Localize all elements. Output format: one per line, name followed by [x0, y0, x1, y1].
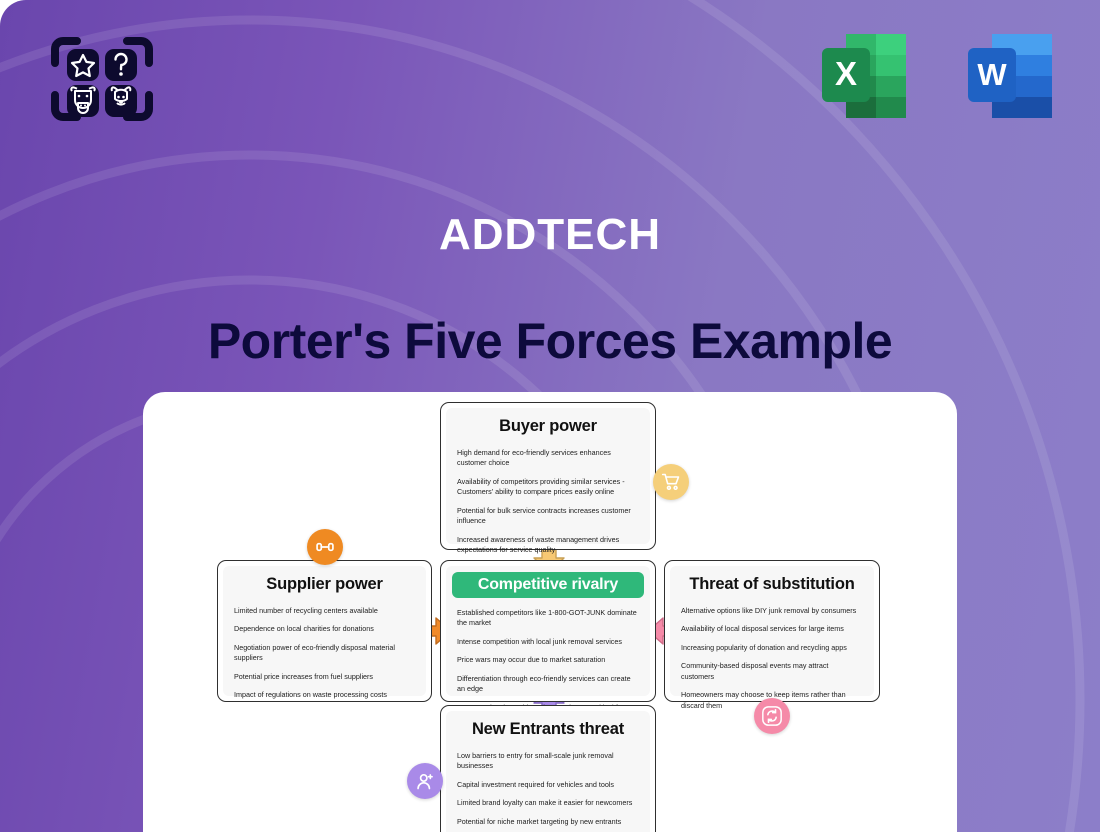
list-item: Intense competition with local junk remo… — [457, 637, 639, 647]
brand-title: ADDTECH — [0, 210, 1100, 260]
card-title: Buyer power — [457, 417, 639, 436]
word-icon: W — [960, 28, 1058, 124]
addtech-logo — [47, 33, 157, 125]
card-buyer-power[interactable]: Buyer power High demand for eco-friendly… — [440, 402, 656, 550]
list-item: Potential price increases from fuel supp… — [234, 672, 415, 682]
badge-supplier-power[interactable] — [307, 529, 343, 565]
card-supplier-power[interactable]: Supplier power Limited number of recycli… — [217, 560, 432, 702]
list-item: Community-based disposal events may attr… — [681, 661, 863, 682]
list-item: Price wars may occur due to market satur… — [457, 655, 639, 665]
card-title: Supplier power — [234, 575, 415, 594]
slide-page: X W ADDTECH Porter's Five Forces Example — [0, 0, 1100, 832]
list-item: Increasing popularity of donation and re… — [681, 643, 863, 653]
page-title: Porter's Five Forces Example — [0, 312, 1100, 370]
diagram-canvas: Buyer power High demand for eco-friendly… — [143, 392, 957, 832]
list-item: Dependence on local charities for donati… — [234, 624, 415, 634]
card-items: Alternative options like DIY junk remova… — [681, 606, 863, 711]
shopping-cart-icon — [661, 472, 681, 492]
list-item: Differentiation through eco-friendly ser… — [457, 674, 639, 695]
card-title: Threat of substitution — [681, 575, 863, 594]
badge-buyer-power[interactable] — [653, 464, 689, 500]
list-item: Negotiation power of eco-friendly dispos… — [234, 643, 415, 664]
list-item: Established competitors like 1-800-GOT-J… — [457, 608, 639, 629]
diagram-board: Buyer power High demand for eco-friendly… — [143, 392, 957, 832]
list-item: Limited number of recycling centers avai… — [234, 606, 415, 616]
card-new-entrants-threat[interactable]: New Entrants threat Low barriers to entr… — [440, 705, 656, 832]
list-item: Alternative options like DIY junk remova… — [681, 606, 863, 616]
list-item: Capital investment required for vehicles… — [457, 780, 639, 790]
card-items: Established competitors like 1-800-GOT-J… — [457, 608, 639, 713]
badge-new-entrants-threat[interactable] — [407, 763, 443, 799]
card-items: High demand for eco-friendly services en… — [457, 448, 639, 556]
list-item: Potential for niche market targeting by … — [457, 817, 639, 827]
list-item: Limited brand loyalty can make it easier… — [457, 798, 639, 808]
excel-letter: X — [835, 55, 857, 92]
excel-icon: X — [814, 28, 912, 124]
list-item: Availability of local disposal services … — [681, 624, 863, 634]
card-items: Limited number of recycling centers avai… — [234, 606, 415, 701]
badge-threat-of-substitution[interactable] — [754, 698, 790, 734]
list-item: Low barriers to entry for small-scale ju… — [457, 751, 639, 772]
list-item: Increased awareness of waste management … — [457, 535, 639, 556]
card-threat-of-substitution[interactable]: Threat of substitution Alternative optio… — [664, 560, 880, 702]
list-item: Availability of competitors providing si… — [457, 477, 639, 498]
link-dumbbell-icon — [315, 537, 335, 557]
star-tile — [67, 49, 99, 81]
card-title: Competitive rivalry — [452, 572, 644, 598]
word-letter: W — [977, 57, 1007, 92]
office-icons: X W — [814, 28, 1058, 124]
list-item: Impact of regulations on waste processin… — [234, 690, 415, 700]
card-items: Low barriers to entry for small-scale ju… — [457, 751, 639, 832]
list-item: High demand for eco-friendly services en… — [457, 448, 639, 469]
card-competitive-rivalry[interactable]: Competitive rivalry Established competit… — [440, 560, 656, 702]
list-item: Potential for bulk service contracts inc… — [457, 506, 639, 527]
refresh-swap-icon — [761, 705, 783, 727]
card-title: New Entrants threat — [457, 720, 639, 739]
user-plus-icon — [415, 771, 436, 792]
